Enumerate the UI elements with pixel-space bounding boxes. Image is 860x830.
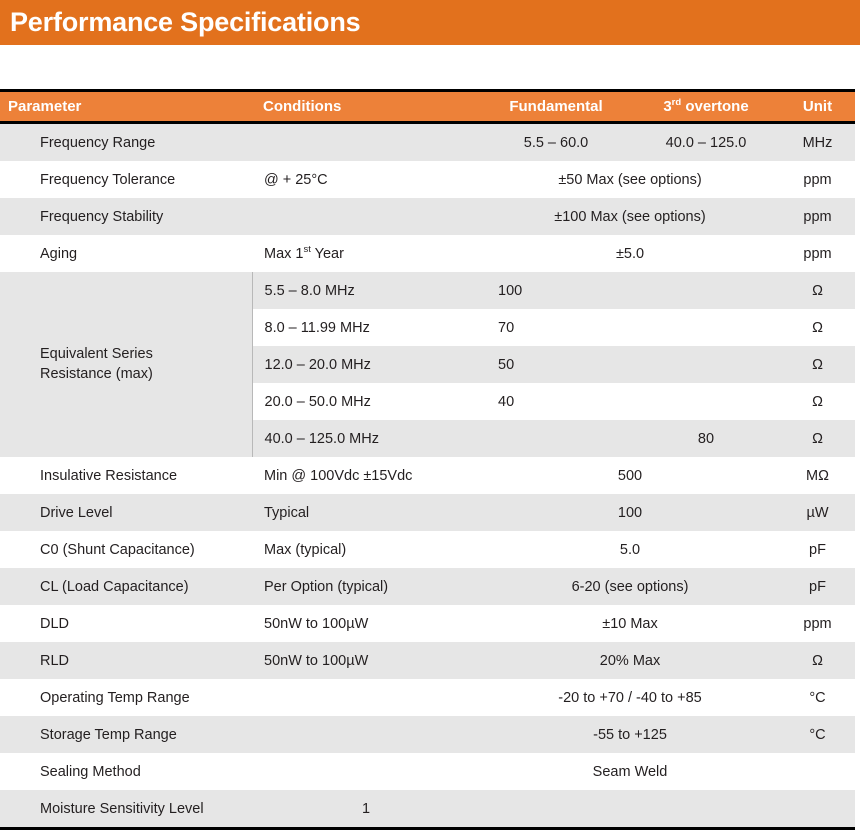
cell-overtone [632, 383, 780, 420]
cell-parameter: RLD [0, 642, 252, 679]
cell-conditions: 12.0 – 20.0 MHz [252, 346, 480, 383]
table-row-frequency-range: Frequency Range 5.5 – 60.0 40.0 – 125.0 … [0, 123, 855, 162]
cell-spanned-value: ±50 Max (see options) [480, 161, 780, 198]
column-header-overtone: 3rd overtone [632, 91, 780, 123]
esr-label-line2: Resistance (max) [40, 366, 153, 382]
banner-spacer [0, 45, 860, 89]
cell-spanned-value: 6-20 (see options) [480, 568, 780, 605]
column-header-conditions: Conditions [252, 91, 480, 123]
cell-parameter: Operating Temp Range [0, 679, 252, 716]
cell-spanned-value [480, 790, 780, 829]
cell-conditions: Min @ 100Vdc ±15Vdc [252, 457, 480, 494]
table-row-frequency-stability: Frequency Stability ±100 Max (see option… [0, 198, 855, 235]
cell-conditions: 40.0 – 125.0 MHz [252, 420, 480, 457]
cell-unit: Ω [780, 346, 855, 383]
cell-spanned-value: Seam Weld [480, 753, 780, 790]
cell-conditions: Per Option (typical) [252, 568, 480, 605]
cell-unit: Ω [780, 383, 855, 420]
cell-conditions [252, 679, 480, 716]
table-row-operating-temp-range: Operating Temp Range -20 to +70 / -40 to… [0, 679, 855, 716]
aging-base: Max 1 [264, 246, 304, 262]
cell-conditions: 50nW to 100µW [252, 642, 480, 679]
table-header: Parameter Conditions Fundamental 3rd ove… [0, 91, 855, 123]
cell-unit: MHz [780, 123, 855, 162]
cell-conditions [252, 198, 480, 235]
table-header-row: Parameter Conditions Fundamental 3rd ove… [0, 91, 855, 123]
table-row-moisture-sensitivity-level: Moisture Sensitivity Level 1 [0, 790, 855, 829]
cell-fundamental: 40 [480, 383, 632, 420]
cell-conditions: 50nW to 100µW [252, 605, 480, 642]
cell-parameter: Drive Level [0, 494, 252, 531]
cell-unit: Ω [780, 272, 855, 309]
cell-spanned-value: 100 [480, 494, 780, 531]
cell-unit: ppm [780, 161, 855, 198]
cell-conditions [252, 753, 480, 790]
cell-unit: pF [780, 531, 855, 568]
cell-spanned-value: -55 to +125 [480, 716, 780, 753]
cell-unit: Ω [780, 309, 855, 346]
overtone-base: 3 [663, 98, 671, 115]
cell-parameter: Aging [0, 235, 252, 272]
cell-fundamental [480, 420, 632, 457]
column-header-parameter: Parameter [0, 91, 252, 123]
cell-parameter: Frequency Range [0, 123, 252, 162]
cell-conditions [252, 123, 480, 162]
cell-conditions [252, 716, 480, 753]
performance-specifications-table: Parameter Conditions Fundamental 3rd ove… [0, 89, 855, 830]
cell-overtone [632, 346, 780, 383]
cell-spanned-value: ±10 Max [480, 605, 780, 642]
cell-conditions: @ + 25°C [252, 161, 480, 198]
cell-unit: ppm [780, 198, 855, 235]
cell-spanned-value: ±100 Max (see options) [480, 198, 780, 235]
cell-parameter: Storage Temp Range [0, 716, 252, 753]
cell-unit: °C [780, 679, 855, 716]
cell-parameter-esr: Equivalent Series Resistance (max) [0, 272, 252, 457]
cell-unit: Ω [780, 420, 855, 457]
cell-parameter: Sealing Method [0, 753, 252, 790]
aging-superscript: st [304, 244, 311, 255]
cell-unit: ppm [780, 605, 855, 642]
cell-conditions: 5.5 – 8.0 MHz [252, 272, 480, 309]
cell-parameter: DLD [0, 605, 252, 642]
cell-unit [780, 753, 855, 790]
cell-overtone: 40.0 – 125.0 [632, 123, 780, 162]
overtone-superscript: rd [672, 97, 682, 108]
cell-overtone [632, 272, 780, 309]
cell-parameter: Frequency Tolerance [0, 161, 252, 198]
cell-parameter: Insulative Resistance [0, 457, 252, 494]
table-row-cl-load-capacitance: CL (Load Capacitance) Per Option (typica… [0, 568, 855, 605]
cell-fundamental: 70 [480, 309, 632, 346]
table-row-insulative-resistance: Insulative Resistance Min @ 100Vdc ±15Vd… [0, 457, 855, 494]
page-title-banner: Performance Specifications [0, 0, 860, 45]
cell-conditions: 20.0 – 50.0 MHz [252, 383, 480, 420]
table-row-c0-shunt-capacitance: C0 (Shunt Capacitance) Max (typical) 5.0… [0, 531, 855, 568]
cell-parameter: CL (Load Capacitance) [0, 568, 252, 605]
page-title: Performance Specifications [10, 9, 360, 36]
cell-spanned-value: ±5.0 [480, 235, 780, 272]
cell-spanned-value: -20 to +70 / -40 to +85 [480, 679, 780, 716]
cell-spanned-value: 20% Max [480, 642, 780, 679]
table-row-esr-1: Equivalent Series Resistance (max) 5.5 –… [0, 272, 855, 309]
table-body: Frequency Range 5.5 – 60.0 40.0 – 125.0 … [0, 123, 855, 829]
cell-parameter: Frequency Stability [0, 198, 252, 235]
cell-conditions: Max 1st Year [252, 235, 480, 272]
cell-unit: ppm [780, 235, 855, 272]
cell-unit: µW [780, 494, 855, 531]
cell-unit: Ω [780, 642, 855, 679]
table-row-aging: Aging Max 1st Year ±5.0 ppm [0, 235, 855, 272]
cell-fundamental: 100 [480, 272, 632, 309]
cell-unit: °C [780, 716, 855, 753]
cell-conditions: 8.0 – 11.99 MHz [252, 309, 480, 346]
cell-spanned-value: 5.0 [480, 531, 780, 568]
aging-rest: Year [311, 246, 344, 262]
table-row-sealing-method: Sealing Method Seam Weld [0, 753, 855, 790]
esr-label-line1: Equivalent Series [40, 346, 153, 362]
cell-fundamental: 5.5 – 60.0 [480, 123, 632, 162]
table-row-storage-temp-range: Storage Temp Range -55 to +125 °C [0, 716, 855, 753]
overtone-rest: overtone [681, 98, 749, 115]
column-header-unit: Unit [780, 91, 855, 123]
column-header-fundamental: Fundamental [480, 91, 632, 123]
cell-parameter: Moisture Sensitivity Level [0, 790, 252, 829]
table-row-frequency-tolerance: Frequency Tolerance @ + 25°C ±50 Max (se… [0, 161, 855, 198]
table-row-dld: DLD 50nW to 100µW ±10 Max ppm [0, 605, 855, 642]
table-row-rld: RLD 50nW to 100µW 20% Max Ω [0, 642, 855, 679]
cell-conditions: Typical [252, 494, 480, 531]
cell-conditions: 1 [252, 790, 480, 829]
table-row-drive-level: Drive Level Typical 100 µW [0, 494, 855, 531]
cell-unit: MΩ [780, 457, 855, 494]
cell-overtone [632, 309, 780, 346]
cell-fundamental: 50 [480, 346, 632, 383]
cell-unit: pF [780, 568, 855, 605]
cell-conditions: Max (typical) [252, 531, 480, 568]
cell-parameter: C0 (Shunt Capacitance) [0, 531, 252, 568]
cell-overtone: 80 [632, 420, 780, 457]
cell-spanned-value: 500 [480, 457, 780, 494]
cell-unit [780, 790, 855, 829]
